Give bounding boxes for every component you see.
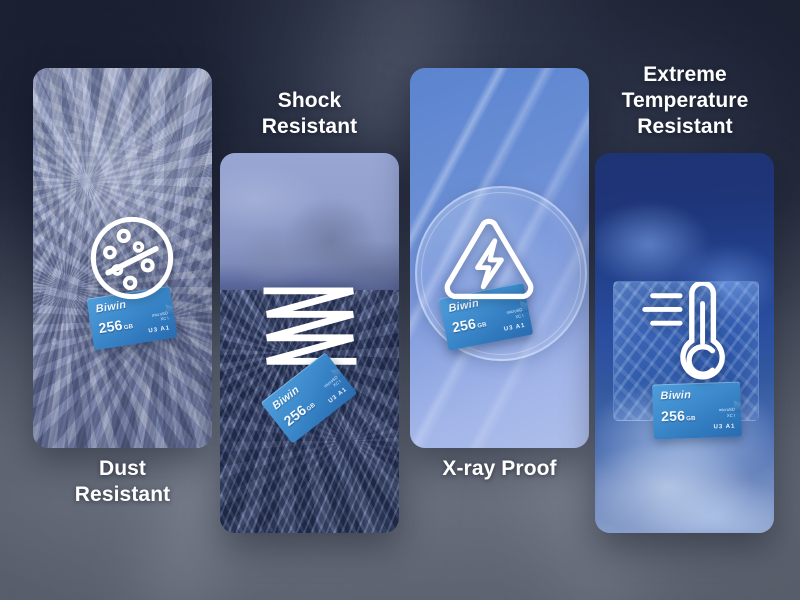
lightning-bolt-triangle-icon [441,212,537,306]
feature-cards-stage: Biwin 256GB microSD XC I U3 A1 Dust Resi… [0,0,800,600]
caption-extreme-temperature-resistant: Extreme Temperature Resistant [589,62,781,140]
caption-dust-resistant: Dust Resistant [33,456,212,508]
dust-particles-slash-icon [86,212,178,304]
chip-speed-marks: U3 A1 [714,424,736,431]
chip-capacity-label: 256GB [661,407,696,424]
chip-capacity-unit: GB [477,322,487,330]
chip-brand-label: Biwin [660,389,691,402]
shock-storm-clouds [220,153,399,305]
chip-capacity-value: 256 [661,408,686,425]
thermometer-celsius-icon [633,282,731,384]
chip-capacity-unit: GB [686,416,696,422]
chip-capacity-unit: GB [124,324,134,331]
chip-spec-line-2: XC I [719,412,735,418]
caption-shock-resistant: Shock Resistant [220,88,399,140]
memory-card-chip-temp: Biwin 256GB microSD XC I U3 A1 [652,381,742,439]
caption-xray-proof: X-ray Proof [410,456,589,482]
chip-spec-lines: microSD XC I [719,407,735,418]
